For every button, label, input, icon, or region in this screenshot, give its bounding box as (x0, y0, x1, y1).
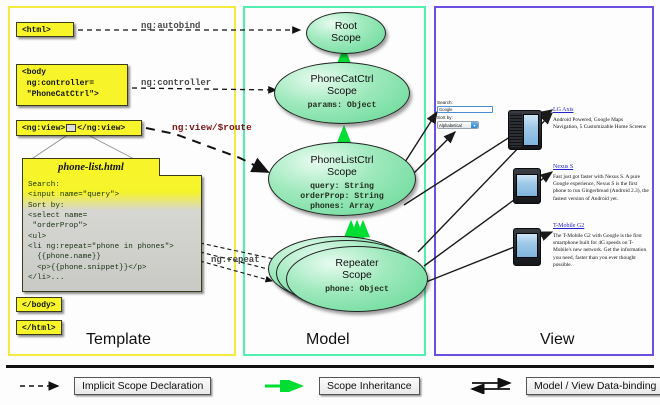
chevron-down-icon: ▾ (471, 122, 478, 128)
phone-snippet: The T-Mobile G2 with Google is the first… (553, 233, 649, 269)
scope-repeater-props: phone: Object (287, 285, 427, 295)
scope-repeater-name: Repeater Scope (287, 258, 427, 282)
phone-thumbnail-t-mobile-g2 (513, 228, 541, 266)
ngview-open-tag: <ng:view> (22, 124, 65, 133)
phone-screen (516, 174, 538, 197)
scope-phonecat-props: params: Object (275, 101, 409, 111)
legend-label: Implicit Scope Declaration (74, 377, 211, 395)
dashed-arrow-icon (18, 380, 66, 392)
legend-scope-inheritance: Scope Inheritance (263, 377, 420, 394)
scope-phonelist-ctrl: PhoneListCtrl Scope query: String orderP… (268, 142, 416, 216)
phone-name-link[interactable]: T-Mobile G2 (553, 222, 649, 230)
scope-phonecat-ctrl: PhoneCatCtrl Scope params: Object (274, 62, 410, 124)
solid-arrow-icon (263, 380, 311, 392)
search-input[interactable]: Google (437, 106, 493, 113)
phone-screen (523, 114, 539, 146)
edge-label-controller: ng:controller (141, 78, 211, 88)
sort-select[interactable]: Alphabetical▾ (437, 121, 479, 129)
phone-thumbnail-lg-axis (508, 110, 542, 150)
phone-name-link[interactable]: LG Axis (553, 106, 649, 114)
legend-model-view-data-binding: Model / View Data-binding (470, 377, 660, 394)
code-box-html-close: </html> (16, 320, 62, 335)
phone-thumbnail-nexus-s (513, 168, 541, 204)
phone-list-card-code: Search: <input name="query"> Sort by: <s… (22, 175, 202, 292)
edge-label-ngview-route: ng:view/$route (172, 122, 252, 133)
list-item: Nexus S Fast just got faster with Nexus … (553, 163, 649, 203)
edge-label-ngrepeat: ng:repeat (211, 255, 260, 265)
scope-phonecat-name: PhoneCatCtrl Scope (275, 74, 409, 98)
panel-label-template: Template (86, 331, 151, 349)
code-box-body-close: </body> (16, 297, 62, 312)
ngview-close-tag: </ng:view> (77, 124, 125, 133)
scope-phonelist-props: query: String orderProp: String phones: … (269, 182, 415, 212)
panel-label-model: Model (306, 331, 350, 349)
scope-root: Root Scope (306, 12, 386, 54)
scope-repeater: Repeater Scope phone: Object (286, 246, 428, 312)
phone-snippet: Android Powered, Google Maps Navigation,… (553, 117, 649, 131)
legend-label: Model / View Data-binding (526, 377, 660, 395)
phone-snippet: Fast just got faster with Nexus S. A pur… (553, 174, 649, 203)
phone-list-template-card: phone-list.html Search: <input name="que… (22, 158, 202, 292)
scope-root-name: Root Scope (307, 21, 385, 45)
phone-name-link[interactable]: Nexus S (553, 163, 649, 171)
list-item: LG Axis Android Powered, Google Maps Nav… (553, 106, 649, 131)
legend-implicit-scope-declaration: Implicit Scope Declaration (18, 377, 211, 394)
code-box-html-open: <html> (16, 22, 74, 37)
view-search-form: Search: Google Sort by: Alphabetical▾ (437, 100, 499, 129)
double-arrow-icon (470, 378, 518, 394)
ngview-placeholder-icon (66, 124, 76, 132)
legend-divider (6, 365, 654, 368)
code-box-body-open: <body ng:controller= "PhoneCatCtrl"> (16, 64, 128, 106)
list-item: T-Mobile G2 The T-Mobile G2 with Google … (553, 222, 649, 269)
panel-label-view: View (540, 331, 574, 349)
phone-list-card-title: phone-list.html (22, 158, 160, 176)
edge-label-autobind: ng:autobind (141, 21, 200, 31)
sort-select-value: Alphabetical (439, 123, 462, 128)
code-box-ngview: <ng:view></ng:view> (16, 120, 142, 136)
phone-screen (516, 233, 538, 258)
angular-architecture-diagram: Template Model View <html> <body ng:cont… (0, 0, 660, 405)
scope-phonelist-name: PhoneListCtrl Scope (269, 155, 415, 179)
phone-keyboard (510, 113, 522, 147)
legend-label: Scope Inheritance (319, 377, 420, 395)
